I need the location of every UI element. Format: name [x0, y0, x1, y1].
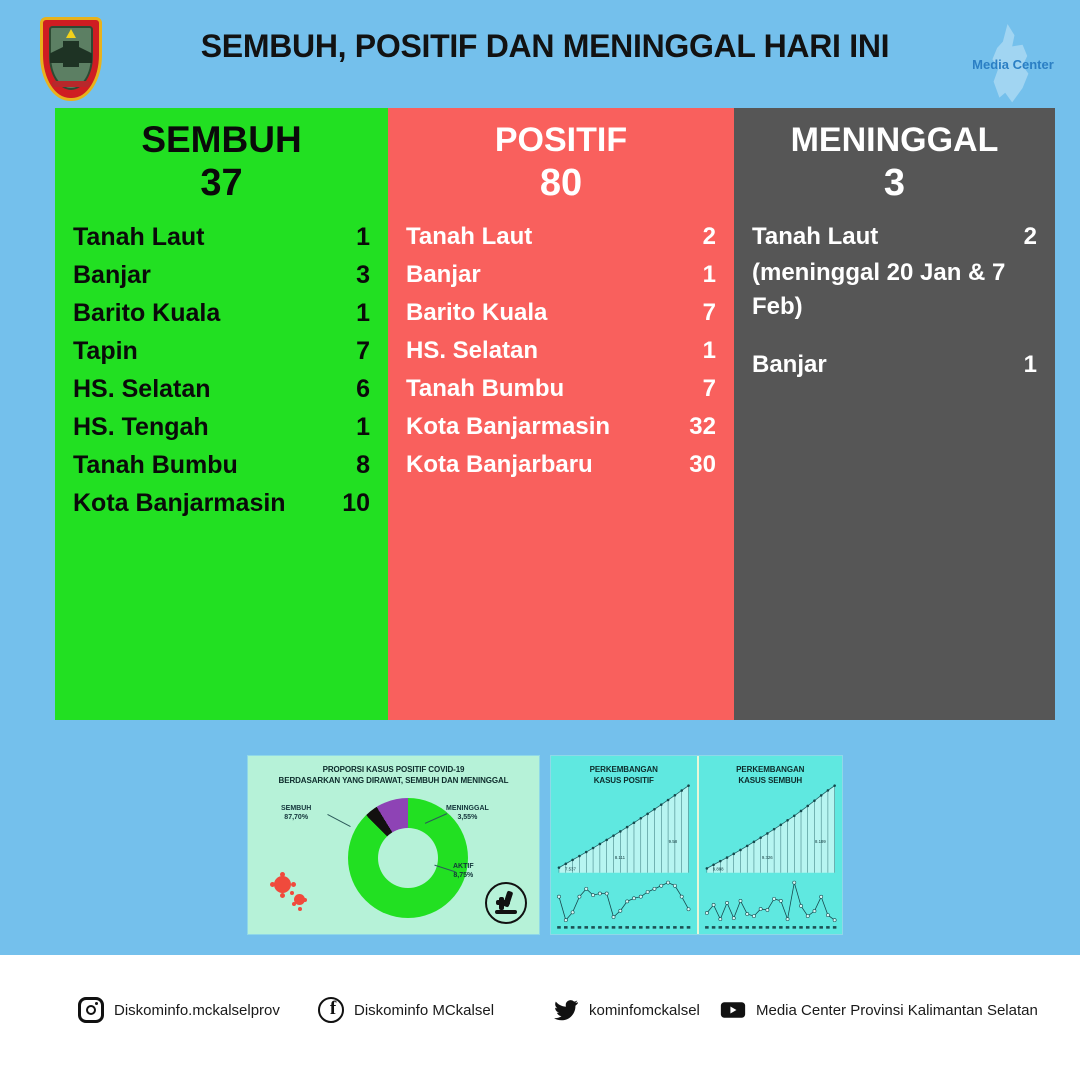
facebook-icon: f: [318, 997, 344, 1023]
facebook-handle: Diskominfo MCkalsel: [354, 1002, 494, 1019]
region-value: 6: [356, 370, 370, 408]
region-label: HS. Tengah: [73, 408, 209, 446]
youtube-icon: [720, 997, 746, 1023]
svg-text:9.58: 9.58: [669, 839, 678, 844]
page-title: SEMBUH, POSITIF DAN MENINGGAL HARI INI: [150, 28, 940, 65]
region-value: 7: [356, 332, 370, 370]
panel-positif-total: 80: [406, 160, 716, 206]
region-value: 3: [356, 256, 370, 294]
donut-label-sembuh: SEMBUH 87,70%: [281, 804, 311, 822]
region-value: 8: [356, 446, 370, 484]
panel-positif-rows: Tanah Laut 2 Banjar 1 Barito Kuala 7 HS.…: [406, 218, 716, 484]
donut-title-line1: PROPORSI KASUS POSITIF COVID-19: [248, 764, 539, 775]
instagram-handle: Diskominfo.mckalselprov: [114, 1002, 280, 1019]
twitter-icon: [553, 997, 579, 1023]
region-label: Barito Kuala: [406, 294, 547, 332]
panel-sembuh: SEMBUH 37 Tanah Laut 1 Banjar 3 Barito K…: [55, 108, 388, 720]
region-label: Tanah Bumbu: [73, 446, 238, 484]
crest-tower-icon: [63, 41, 79, 67]
donut-chart-title: PROPORSI KASUS POSITIF COVID-19 BERDASAR…: [248, 764, 539, 786]
region-label: Tanah Laut: [406, 218, 532, 256]
panel-positif-title: POSITIF: [406, 118, 716, 162]
svg-text:8.111: 8.111: [615, 855, 626, 860]
donut-label-meninggal: MENINGGAL 3,55%: [446, 804, 489, 822]
table-row: Tanah Bumbu 8: [73, 446, 370, 484]
page-footer: Diskominfo.mckalselprov f Diskominfo MCk…: [0, 955, 1080, 1080]
provincial-crest-icon: [40, 17, 102, 101]
table-row: Tanah Laut 2: [752, 218, 1037, 256]
crest-star-icon: [66, 29, 76, 38]
statistics-panels: SEMBUH 37 Tanah Laut 1 Banjar 3 Barito K…: [55, 108, 1055, 720]
panel-positif: POSITIF 80 Tanah Laut 2 Banjar 1 Barito …: [388, 108, 734, 720]
region-label: Kota Banjarmasin: [73, 484, 286, 522]
region-label: HS. Selatan: [406, 332, 538, 370]
panel-sembuh-rows: Tanah Laut 1 Banjar 3 Barito Kuala 1 Tap…: [73, 218, 370, 522]
virus-icon: [266, 874, 314, 916]
donut-chart-card[interactable]: PROPORSI KASUS POSITIF COVID-19 BERDASAR…: [247, 755, 540, 935]
social-youtube[interactable]: Media Center Provinsi Kalimantan Selatan: [720, 997, 1038, 1023]
svg-text:9.326: 9.326: [761, 855, 772, 860]
chart-perkembangan-kasus-sembuh[interactable]: PERKEMBANGAN KASUS SEMBUH 9.8889.3268.19…: [697, 756, 843, 934]
table-row: Tanah Laut 2: [406, 218, 716, 256]
table-row: Banjar 1: [752, 346, 1037, 384]
region-label: Tanah Bumbu: [406, 370, 564, 408]
region-value: 1: [356, 408, 370, 446]
region-value: 2: [703, 218, 716, 256]
panel-sembuh-title: SEMBUH: [73, 118, 370, 162]
social-twitter[interactable]: kominfomckalsel: [553, 997, 700, 1023]
donut-hole: [378, 828, 438, 888]
virus-body: [274, 876, 291, 893]
table-row: Banjar 1: [406, 256, 716, 294]
region-value: 32: [689, 408, 716, 446]
region-label: Banjar: [752, 346, 827, 384]
region-value: 30: [689, 446, 716, 484]
table-row: Tanah Bumbu 7: [406, 370, 716, 408]
region-value: 1: [703, 332, 716, 370]
youtube-handle: Media Center Provinsi Kalimantan Selatan: [756, 1002, 1038, 1019]
table-row: Kota Banjarmasin 10: [73, 484, 370, 522]
panel-meninggal-title: MENINGGAL: [752, 118, 1037, 162]
table-row: HS. Selatan 1: [406, 332, 716, 370]
table-row: Kota Banjarbaru 30: [406, 446, 716, 484]
panel-meninggal-rows: Tanah Laut 2 (meninggal 20 Jan & 7 Feb) …: [752, 218, 1037, 384]
crest-banner: [52, 81, 90, 87]
svg-text:8.199: 8.199: [814, 839, 825, 844]
table-row: Tapin 7: [73, 332, 370, 370]
panel-sembuh-total: 37: [73, 160, 370, 206]
region-label: Barito Kuala: [73, 294, 220, 332]
table-row: Barito Kuala 7: [406, 294, 716, 332]
region-value: 1: [356, 294, 370, 332]
region-label: Tanah Laut: [752, 218, 878, 256]
media-center-watermark: Media Center: [964, 22, 1062, 106]
spacer: [752, 324, 1037, 346]
page-header: SEMBUH, POSITIF DAN MENINGGAL HARI INI M…: [0, 0, 1080, 108]
region-label: Banjar: [406, 256, 481, 294]
svg-text:9.888: 9.888: [712, 867, 723, 872]
microscope-icon: [485, 882, 527, 924]
region-label: Tanah Laut: [73, 218, 204, 256]
table-row: HS. Selatan 6: [73, 370, 370, 408]
svg-text:7.537: 7.537: [565, 867, 577, 872]
region-label: Kota Banjarbaru: [406, 446, 593, 484]
table-row: Tanah Laut 1: [73, 218, 370, 256]
region-value: 1: [1024, 346, 1037, 384]
twitter-handle: kominfomckalsel: [589, 1002, 700, 1019]
chart-thumbnails: PROPORSI KASUS POSITIF COVID-19 BERDASAR…: [247, 755, 847, 935]
line-charts-card[interactable]: PERKEMBANGAN KASUS POSITIF 7.5378.1119.5…: [550, 755, 843, 935]
meninggal-note: (meninggal 20 Jan & 7 Feb): [752, 256, 1037, 324]
watermark-label: Media Center: [964, 57, 1062, 72]
region-label: Tapin: [73, 332, 138, 370]
social-instagram[interactable]: Diskominfo.mckalselprov: [78, 997, 280, 1023]
region-value: 7: [703, 370, 716, 408]
region-value: 7: [703, 294, 716, 332]
region-value: 1: [703, 256, 716, 294]
social-facebook[interactable]: f Diskominfo MCkalsel: [318, 997, 494, 1023]
region-value: 2: [1024, 218, 1037, 256]
table-row: HS. Tengah 1: [73, 408, 370, 446]
region-label: HS. Selatan: [73, 370, 211, 408]
table-row: Kota Banjarmasin 32: [406, 408, 716, 446]
table-row: Barito Kuala 1: [73, 294, 370, 332]
line-chart-positif-svg: 7.5378.1119.58: [551, 756, 697, 934]
table-row: Banjar 3: [73, 256, 370, 294]
donut-label-aktif: AKTIF 8,75%: [453, 862, 474, 880]
chart-perkembangan-kasus-positif[interactable]: PERKEMBANGAN KASUS POSITIF 7.5378.1119.5…: [551, 756, 697, 934]
panel-meninggal: MENINGGAL 3 Tanah Laut 2 (meninggal 20 J…: [734, 108, 1055, 720]
region-label: Banjar: [73, 256, 151, 294]
line-chart-sembuh-svg: 9.8889.3268.199: [699, 756, 843, 934]
instagram-icon: [78, 997, 104, 1023]
panel-meninggal-total: 3: [752, 160, 1037, 206]
region-value: 10: [342, 484, 370, 522]
region-value: 1: [356, 218, 370, 256]
donut-title-line2: BERDASARKAN YANG DIRAWAT, SEMBUH DAN MEN…: [248, 775, 539, 786]
region-label: Kota Banjarmasin: [406, 408, 610, 446]
